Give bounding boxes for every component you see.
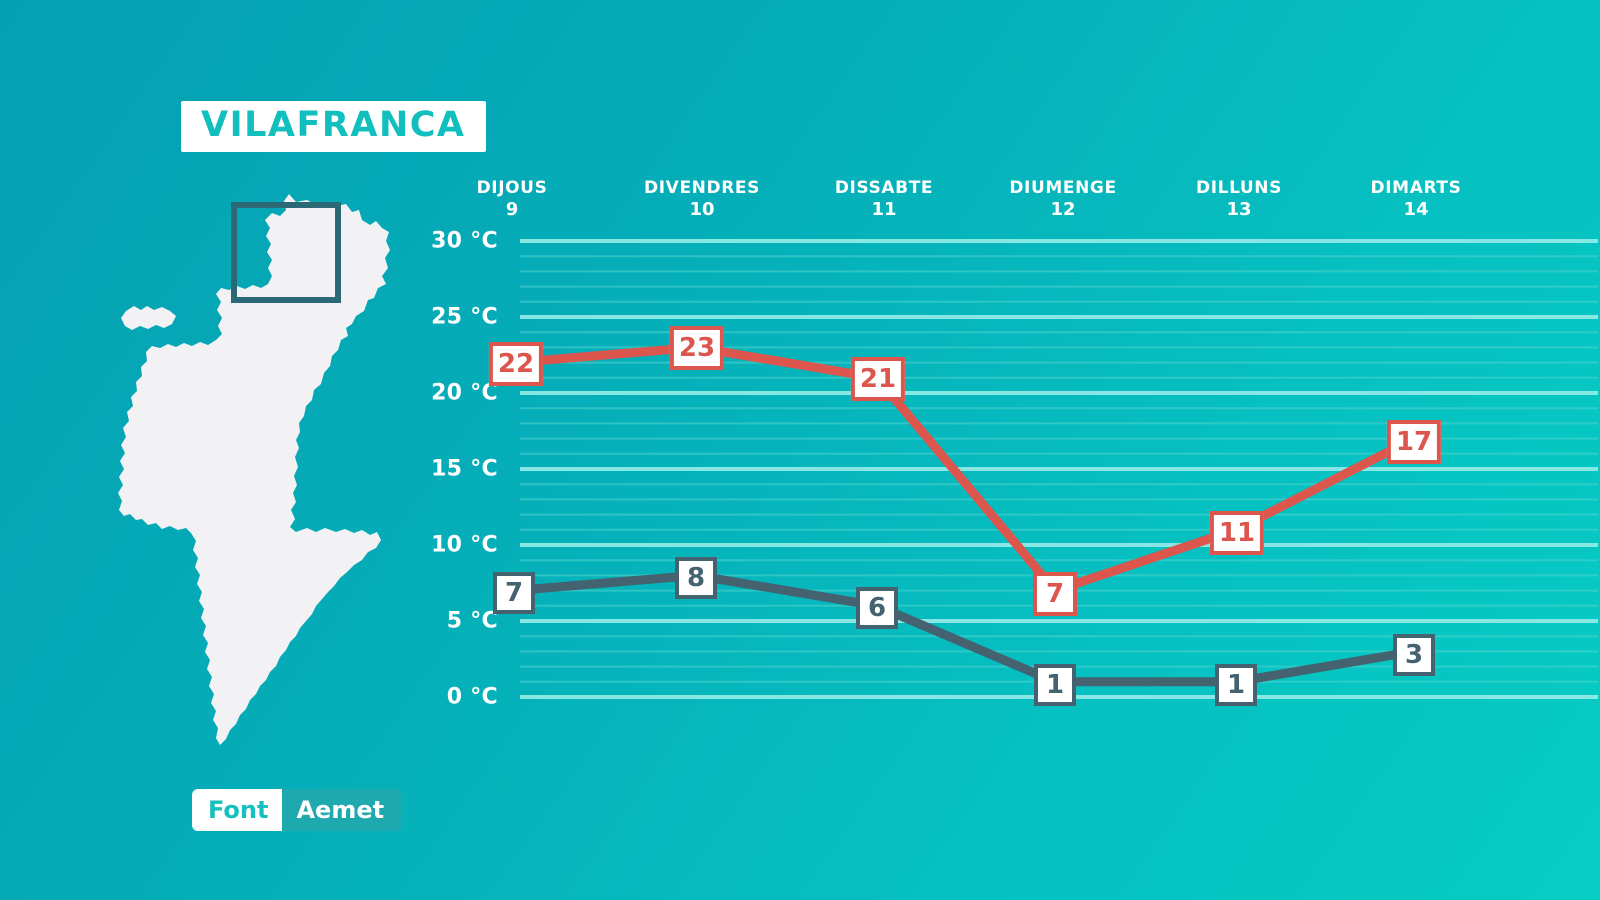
y-tick-10: 10 °C [402,533,498,558]
max-label-4: 11 [1210,511,1264,555]
source-badge: Font Aemet [192,789,402,831]
min-label-4: 1 [1215,664,1257,706]
y-tick-20: 20 °C [402,381,498,406]
max-label-1: 23 [670,326,724,370]
y-axis: 30 °C 25 °C 20 °C 15 °C 10 °C 5 °C 0 °C [402,0,498,900]
major-gridlines [520,241,1598,697]
min-label-2: 6 [856,587,898,629]
y-tick-30: 30 °C [402,229,498,254]
y-tick-0: 0 °C [402,685,498,710]
min-label-1: 8 [675,557,717,599]
max-label-2: 21 [851,357,905,401]
map-region-shape [118,194,390,745]
min-label-5: 3 [1393,634,1435,676]
y-tick-25: 25 °C [402,305,498,330]
y-tick-15: 15 °C [402,457,498,482]
region-map [100,180,420,760]
max-label-3: 7 [1033,572,1077,616]
map-inset-shape [121,306,176,330]
y-tick-5: 5 °C [402,609,498,634]
min-label-0: 7 [493,572,535,614]
source-name: Aemet [282,789,402,831]
min-label-3: 1 [1034,664,1076,706]
source-label: Font [192,789,282,831]
max-label-0: 22 [489,342,543,386]
max-label-5: 17 [1387,420,1441,464]
